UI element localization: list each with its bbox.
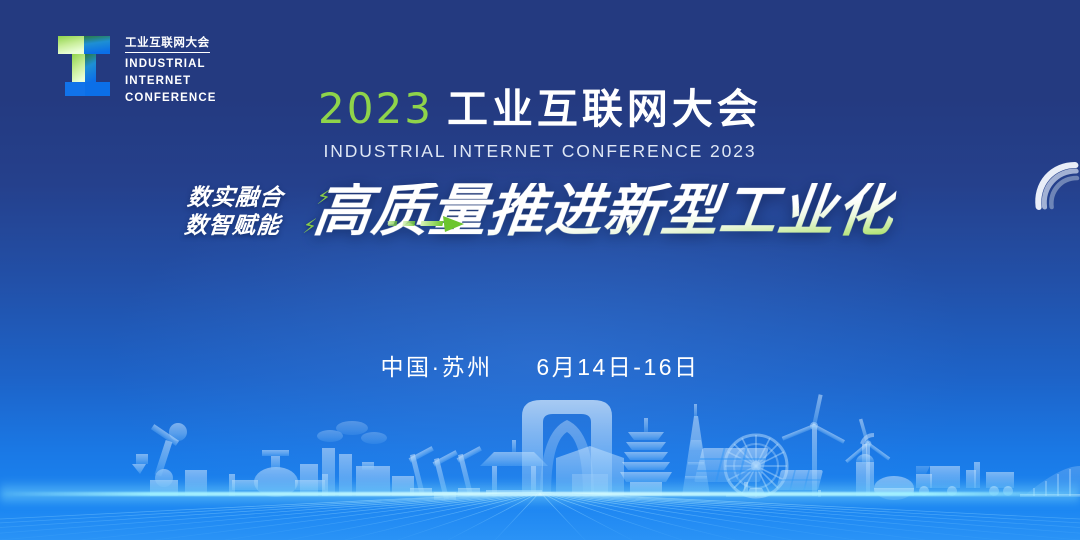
slogan-small-line2-text: 数智赋能 [183,212,282,238]
slogan-small-line1: 数实融合 ⚡ [186,185,307,210]
logo-english-line1: INDUSTRIAL [125,56,217,73]
slogan-small-line2: 数智赋能 ⚡ [183,213,304,238]
main-title-block: 2023 工业互联网大会 INDUSTRIAL INTERNET CONFERE… [0,88,1080,161]
wifi-signal-arc-icon [1024,157,1080,215]
perspective-grid [0,492,1080,540]
slogan-inner: 数实融合 ⚡ 数智赋能 ⚡ 高质量推进新型工业化 [186,183,894,240]
title-english-subtitle: INDUSTRIAL INTERNET CONFERENCE 2023 [0,143,1080,161]
title-row: 2023 工业互联网大会 [0,88,1080,130]
slogan-small-line1-text: 数实融合 [186,184,285,210]
suzhou-industrial-skyline [0,370,1080,540]
conference-banner: 工业互联网大会 INDUSTRIAL INTERNET CONFERENCE 2… [0,0,1080,540]
title-year: 2023 [318,88,433,130]
slogan-main-text: 高质量推进新型工业化 [311,183,898,240]
title-chinese: 工业互联网大会 [447,89,762,130]
logo-chinese-name: 工业互联网大会 [125,36,210,53]
slogan-small-lines: 数实融合 ⚡ 数智赋能 ⚡ [183,185,307,237]
slogan-block: 数实融合 ⚡ 数智赋能 ⚡ 高质量推进新型工业化 [0,183,1080,240]
